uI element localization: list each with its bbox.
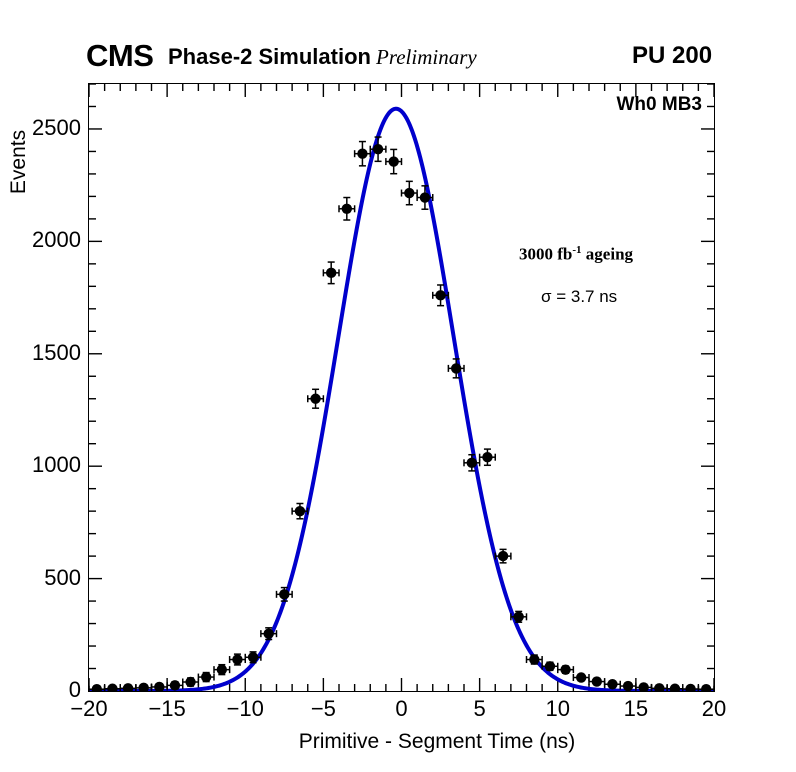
data-point [230, 654, 246, 665]
data-point [698, 684, 714, 691]
data-point [558, 664, 574, 674]
x-tick-label: −15 [132, 696, 202, 722]
y-tick-label: 1000 [11, 452, 81, 478]
data-point [89, 684, 105, 691]
x-tick-label: −10 [210, 696, 280, 722]
data-points-layer [89, 137, 714, 691]
y-tick-label: 1500 [11, 340, 81, 366]
data-point [214, 664, 230, 674]
ageing-label-exponent: -1 [572, 244, 581, 256]
plot-frame: Wh0 MB3 3000 fb-1 ageing σ = 3.7 ns [88, 83, 715, 692]
x-axis-title-text: Primitive - Segment Time (ns) [299, 730, 576, 754]
ageing-label: 3000 fb-1 ageing [519, 244, 633, 265]
data-point [198, 672, 214, 682]
data-point [589, 676, 605, 686]
sigma-label: σ = 3.7 ns [541, 287, 617, 307]
y-tick-label: 0 [11, 677, 81, 703]
cms-preliminary-label: Preliminary [376, 47, 477, 68]
data-point [339, 198, 355, 220]
data-point [573, 672, 589, 682]
data-point [605, 679, 621, 689]
ageing-label-pre: 3000 fb [519, 245, 572, 264]
data-point [308, 389, 324, 408]
data-point [386, 149, 402, 173]
y-tick-label: 2500 [11, 115, 81, 141]
x-axis-title: Primitive - Segment Time (ns) [0, 730, 796, 754]
axis-ticks [89, 84, 714, 691]
cms-header: CMS Phase-2 Simulation Preliminary PU 20… [0, 0, 796, 80]
cms-logo: CMS [86, 40, 153, 71]
data-point [402, 181, 418, 204]
x-tick-label: 10 [523, 696, 593, 722]
x-tick-label: 0 [367, 696, 437, 722]
x-tick-label: 15 [601, 696, 671, 722]
data-point [183, 677, 199, 687]
data-point [323, 262, 339, 284]
plot-canvas: CMS Phase-2 Simulation Preliminary PU 20… [0, 0, 796, 772]
region-label: Wh0 MB3 [617, 94, 703, 116]
data-point [355, 142, 371, 166]
x-tick-label: 20 [679, 696, 749, 722]
ageing-label-post: ageing [582, 245, 633, 264]
x-tick-label: 5 [445, 696, 515, 722]
data-point [480, 449, 496, 465]
y-tick-label: 500 [11, 565, 81, 591]
cms-subtitle: Phase-2 Simulation [168, 46, 371, 68]
y-tick-label: 2000 [11, 227, 81, 253]
x-tick-label: −5 [288, 696, 358, 722]
plot-graphics [89, 84, 714, 691]
pileup-label: PU 200 [632, 44, 712, 68]
